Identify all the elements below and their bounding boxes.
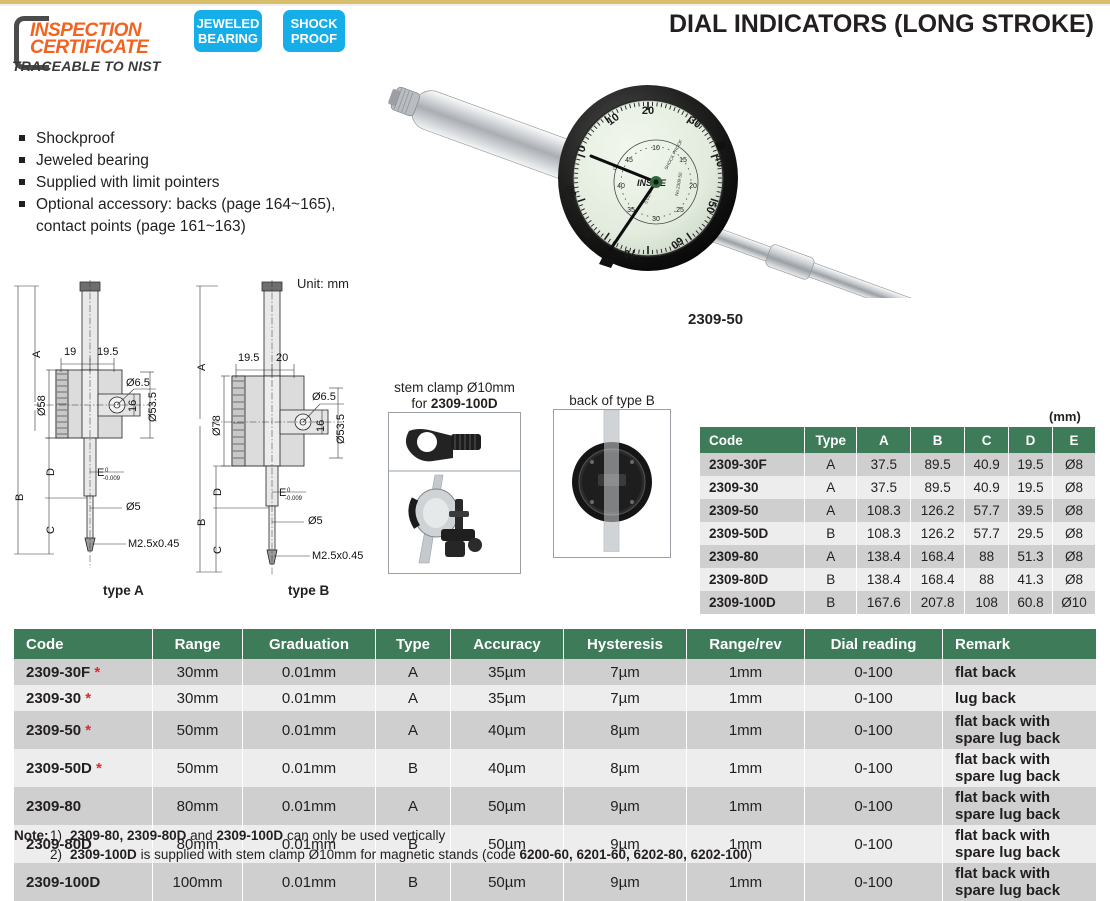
table-row: 2309-30A37.589.540.919.5Ø8 bbox=[700, 476, 1096, 499]
svg-text:D: D bbox=[45, 468, 57, 476]
note-tail: can only be used vertically bbox=[283, 828, 445, 843]
cell-range: 30mm bbox=[153, 659, 243, 685]
note-text: 2309-100D is supplied with stem clamp Ø1… bbox=[70, 845, 752, 864]
asterisk-marker: * bbox=[81, 722, 91, 739]
cell-value: 126.2 bbox=[911, 522, 965, 545]
col-hysteresis: Hysteresis bbox=[564, 629, 687, 659]
cell-value: 89.5 bbox=[911, 476, 965, 499]
cell-accuracy: 50µm bbox=[451, 787, 564, 825]
cell-hysteresis: 8µm bbox=[564, 711, 687, 749]
cell-type: A bbox=[376, 787, 451, 825]
inspection-certificate-logo: INSPECTION CERTIFICATE TRACEABLE TO NIST bbox=[12, 14, 192, 72]
cell-remark: flat back with spare lug back bbox=[943, 749, 1097, 787]
cell-code: 2309-100D bbox=[700, 591, 805, 614]
feature-text: Optional accessory: backs (page 164~165)… bbox=[36, 196, 335, 213]
table-row: 2309-100DB167.6207.810860.8Ø10 bbox=[700, 591, 1096, 614]
svg-text:19: 19 bbox=[64, 346, 76, 358]
cell-range-rev: 1mm bbox=[687, 711, 805, 749]
table-row: 2309-50D *50mm0.01mmB40µm8µm1mm0-100flat… bbox=[14, 749, 1097, 787]
cell-range: 30mm bbox=[153, 685, 243, 711]
cell-value: 37.5 bbox=[857, 476, 911, 499]
col-remark: Remark bbox=[943, 629, 1097, 659]
note-mid: is supplied with stem clamp Ø10mm for ma… bbox=[137, 847, 520, 862]
table-row: 2309-80A138.4168.48851.3Ø8 bbox=[700, 545, 1096, 568]
top-accent-bar bbox=[0, 0, 1110, 4]
note-number: 2) bbox=[50, 845, 70, 864]
cell-dial-reading: 0-100 bbox=[805, 711, 943, 749]
cell-value: B bbox=[805, 568, 857, 591]
table-header-row: Code Range Graduation Type Accuracy Hyst… bbox=[14, 629, 1097, 659]
cell-hysteresis: 7µm bbox=[564, 659, 687, 685]
cell-range-rev: 1mm bbox=[687, 787, 805, 825]
cell-code: 2309-50 * bbox=[14, 711, 153, 749]
svg-text:C: C bbox=[45, 526, 57, 534]
feature-text-continuation: contact points (page 161~163) bbox=[14, 216, 335, 237]
cell-remark: flat back with spare lug back bbox=[943, 787, 1097, 825]
product-code-caption: 2309-50 bbox=[688, 311, 743, 328]
cell-value: 88 bbox=[965, 568, 1009, 591]
cell-remark: flat back with spare lug back bbox=[943, 863, 1097, 901]
dimension-drawing-type-a: A B C D 19 19.5 Ø58 Ø53.5 16 Ø6.5 Ø5 M2.… bbox=[4, 276, 189, 596]
col-d: D bbox=[1009, 427, 1053, 453]
cell-range-rev: 1mm bbox=[687, 659, 805, 685]
cell-value: 19.5 bbox=[1009, 453, 1053, 476]
note-bold-1: 2309-80, 2309-80D bbox=[70, 828, 186, 843]
svg-text:45: 45 bbox=[625, 157, 633, 164]
cell-remark: flat back with spare lug back bbox=[943, 825, 1097, 863]
table-row: 2309-100D100mm0.01mmB50µm9µm1mm0-100flat… bbox=[14, 863, 1097, 901]
svg-text:B: B bbox=[196, 519, 208, 526]
cell-code: 2309-30F bbox=[700, 453, 805, 476]
svg-text:16: 16 bbox=[315, 420, 327, 432]
asterisk-marker: * bbox=[81, 690, 91, 707]
svg-text:0: 0 bbox=[287, 488, 291, 494]
accessory-caption-prefix: for bbox=[411, 396, 431, 411]
badge-shock-proof-line2: PROOF bbox=[291, 31, 337, 46]
col-range-rev: Range/rev bbox=[687, 629, 805, 659]
cell-value: 40.9 bbox=[965, 476, 1009, 499]
cell-value: Ø8 bbox=[1052, 476, 1095, 499]
note-number: 1) bbox=[50, 826, 70, 845]
cell-value: 57.7 bbox=[965, 522, 1009, 545]
svg-text:D: D bbox=[212, 488, 224, 496]
col-dial-reading: Dial reading bbox=[805, 629, 943, 659]
svg-text:20: 20 bbox=[642, 105, 654, 117]
notes-label-spacer bbox=[14, 845, 50, 864]
note-bold-2: 6200-60, 6201-60, 6202-80, 6202-100 bbox=[519, 847, 747, 862]
col-range: Range bbox=[153, 629, 243, 659]
accessory-image-frame bbox=[388, 412, 521, 574]
asterisk-marker: * bbox=[90, 664, 100, 681]
svg-text:Ø5: Ø5 bbox=[126, 501, 141, 513]
cell-value: A bbox=[805, 499, 857, 522]
svg-text:0: 0 bbox=[105, 468, 109, 474]
cell-hysteresis: 7µm bbox=[564, 685, 687, 711]
svg-text:Ø6.5: Ø6.5 bbox=[126, 377, 150, 389]
col-e: E bbox=[1052, 427, 1095, 453]
cell-hysteresis: 8µm bbox=[564, 749, 687, 787]
product-photo-dial-indicator: 20 30 40 50 60 70 80 90 0 10 10 15 20 25… bbox=[375, 78, 1035, 298]
catalog-page: INSPECTION CERTIFICATE TRACEABLE TO NIST… bbox=[0, 0, 1110, 866]
cell-value: 88 bbox=[965, 545, 1009, 568]
drawing-label-type-a: type A bbox=[103, 583, 144, 598]
col-c: C bbox=[965, 427, 1009, 453]
badge-jeweled-bearing-line2: BEARING bbox=[198, 31, 258, 46]
cell-value: B bbox=[805, 591, 857, 614]
accessory-image-frame bbox=[553, 409, 671, 558]
col-type: Type bbox=[805, 427, 857, 453]
cell-code: 2309-30F * bbox=[14, 659, 153, 685]
svg-text:B: B bbox=[14, 494, 26, 501]
drawing-label-type-b: type B bbox=[288, 583, 329, 598]
cell-value: 168.4 bbox=[911, 568, 965, 591]
table-row: 2309-80DB138.4168.48841.3Ø8 bbox=[700, 568, 1096, 591]
cell-value: 168.4 bbox=[911, 545, 965, 568]
cell-type: A bbox=[376, 685, 451, 711]
cell-dial-reading: 0-100 bbox=[805, 825, 943, 863]
note-mid: and bbox=[186, 828, 216, 843]
feature-text: Shockproof bbox=[36, 130, 114, 147]
svg-text:A: A bbox=[31, 350, 43, 358]
dimension-drawing-type-b: A B C D 19.5 20 Ø78 Ø53.5 16 Ø6.5 Ø5 M2.… bbox=[186, 276, 381, 596]
svg-text:Ø58: Ø58 bbox=[36, 395, 48, 416]
cell-value: 60.8 bbox=[1009, 591, 1053, 614]
cell-range: 50mm bbox=[153, 711, 243, 749]
cell-dial-reading: 0-100 bbox=[805, 787, 943, 825]
cell-hysteresis: 9µm bbox=[564, 863, 687, 901]
cell-remark: lug back bbox=[943, 685, 1097, 711]
table-row: 2309-30F *30mm0.01mmA35µm7µm1mm0-100flat… bbox=[14, 659, 1097, 685]
unit-label: Unit: mm bbox=[297, 276, 349, 291]
cell-value: 40.9 bbox=[965, 453, 1009, 476]
cell-accuracy: 50µm bbox=[451, 863, 564, 901]
accessory-caption: stem clamp Ø10mm for 2309-100D bbox=[388, 380, 521, 412]
cell-graduation: 0.01mm bbox=[243, 863, 376, 901]
cell-value: 108.3 bbox=[857, 522, 911, 545]
cell-dial-reading: 0-100 bbox=[805, 659, 943, 685]
cell-type: A bbox=[376, 711, 451, 749]
badge-shock-proof-line1: SHOCK bbox=[291, 16, 338, 31]
cell-dial-reading: 0-100 bbox=[805, 749, 943, 787]
cell-hysteresis: 9µm bbox=[564, 787, 687, 825]
list-item: Jeweled bearing bbox=[14, 150, 335, 171]
note-row: Note: 1) 2309-80, 2309-80D and 2309-100D… bbox=[14, 826, 752, 845]
cell-value: 167.6 bbox=[857, 591, 911, 614]
cell-value: 138.4 bbox=[857, 545, 911, 568]
cell-value: A bbox=[805, 476, 857, 499]
cell-value: Ø8 bbox=[1052, 453, 1095, 476]
svg-text:15: 15 bbox=[679, 157, 687, 164]
dimension-table-unit: (mm) bbox=[1049, 409, 1081, 424]
cell-code: 2309-30 * bbox=[14, 685, 153, 711]
cell-value: 126.2 bbox=[911, 499, 965, 522]
cell-accuracy: 40µm bbox=[451, 711, 564, 749]
cell-graduation: 0.01mm bbox=[243, 685, 376, 711]
list-item: Supplied with limit pointers bbox=[14, 172, 335, 193]
feature-text: Supplied with limit pointers bbox=[36, 174, 220, 191]
cell-value: 41.3 bbox=[1009, 568, 1053, 591]
cell-value: 19.5 bbox=[1009, 476, 1053, 499]
accessory-stem-clamp: stem clamp Ø10mm for 2309-100D bbox=[388, 380, 521, 574]
cell-code: 2309-100D bbox=[14, 863, 153, 901]
svg-text:-0.009: -0.009 bbox=[103, 476, 121, 482]
cell-value: Ø10 bbox=[1052, 591, 1095, 614]
table-row: 2309-8080mm0.01mmA50µm9µm1mm0-100flat ba… bbox=[14, 787, 1097, 825]
page-title: DIAL INDICATORS (LONG STROKE) bbox=[669, 10, 1094, 39]
cell-code: 2309-30 bbox=[700, 476, 805, 499]
list-item: Optional accessory: backs (page 164~165)… bbox=[14, 194, 335, 215]
svg-text:19.5: 19.5 bbox=[238, 352, 259, 364]
note-tail: ) bbox=[748, 847, 753, 862]
cell-value: Ø8 bbox=[1052, 568, 1095, 591]
accessory-caption-code: 2309-100D bbox=[431, 396, 498, 411]
svg-text:70: 70 bbox=[624, 247, 636, 259]
asterisk-marker: * bbox=[92, 760, 102, 777]
cell-value: Ø8 bbox=[1052, 499, 1095, 522]
cell-value: Ø8 bbox=[1052, 522, 1095, 545]
col-accuracy: Accuracy bbox=[451, 629, 564, 659]
svg-text:M2.5x0.45: M2.5x0.45 bbox=[312, 550, 363, 562]
note-bold-1: 2309-100D bbox=[70, 847, 137, 862]
cell-graduation: 0.01mm bbox=[243, 749, 376, 787]
cell-range-rev: 1mm bbox=[687, 749, 805, 787]
notes-label: Note: bbox=[14, 826, 50, 845]
table-row: 2309-50DB108.3126.257.729.5Ø8 bbox=[700, 522, 1096, 545]
cell-value: 89.5 bbox=[911, 453, 965, 476]
cell-code: 2309-50 bbox=[700, 499, 805, 522]
cell-value: Ø8 bbox=[1052, 545, 1095, 568]
svg-text:-0.009: -0.009 bbox=[285, 496, 303, 502]
cell-range: 80mm bbox=[153, 787, 243, 825]
list-item: Shockproof bbox=[14, 128, 335, 149]
cell-value: 108 bbox=[965, 591, 1009, 614]
col-code: Code bbox=[700, 427, 805, 453]
cell-value: 51.3 bbox=[1009, 545, 1053, 568]
cell-value: 37.5 bbox=[857, 453, 911, 476]
cell-value: 108.3 bbox=[857, 499, 911, 522]
note-text: 2309-80, 2309-80D and 2309-100D can only… bbox=[70, 826, 445, 845]
accessory-caption-line1: stem clamp Ø10mm bbox=[388, 380, 521, 396]
cell-range-rev: 1mm bbox=[687, 863, 805, 901]
col-code: Code bbox=[14, 629, 153, 659]
cell-value: 138.4 bbox=[857, 568, 911, 591]
cell-range: 100mm bbox=[153, 863, 243, 901]
cell-value: 39.5 bbox=[1009, 499, 1053, 522]
cell-accuracy: 40µm bbox=[451, 749, 564, 787]
note-bold-2: 2309-100D bbox=[216, 828, 283, 843]
cell-graduation: 0.01mm bbox=[243, 659, 376, 685]
badge-jeweled-bearing: JEWELED BEARING bbox=[194, 10, 262, 52]
accessory-caption: back of type B bbox=[553, 393, 671, 409]
svg-text:10: 10 bbox=[652, 145, 660, 152]
feature-list: Shockproof Jeweled bearing Supplied with… bbox=[14, 128, 335, 237]
cell-value: A bbox=[805, 545, 857, 568]
cell-code: 2309-50D bbox=[700, 522, 805, 545]
table-row: 2309-50A108.3126.257.739.5Ø8 bbox=[700, 499, 1096, 522]
svg-text:Ø6.5: Ø6.5 bbox=[312, 391, 336, 403]
svg-text:C: C bbox=[212, 546, 224, 554]
bullet-square-icon bbox=[19, 135, 25, 141]
svg-text:M2.5x0.45: M2.5x0.45 bbox=[128, 538, 179, 550]
cell-accuracy: 35µm bbox=[451, 685, 564, 711]
cell-value: B bbox=[805, 522, 857, 545]
notes-block: Note: 1) 2309-80, 2309-80D and 2309-100D… bbox=[14, 826, 752, 864]
accessory-back-type-b: back of type B bbox=[553, 393, 671, 558]
cell-type: B bbox=[376, 863, 451, 901]
svg-text:Ø53.5: Ø53.5 bbox=[147, 392, 159, 422]
cell-value: 29.5 bbox=[1009, 522, 1053, 545]
badge-shock-proof: SHOCK PROOF bbox=[283, 10, 345, 52]
cell-code: 2309-80D bbox=[700, 568, 805, 591]
cell-remark: flat back bbox=[943, 659, 1097, 685]
dimension-table: Code Type A B C D E 2309-30FA37.589.540.… bbox=[700, 427, 1096, 614]
cell-type: B bbox=[376, 749, 451, 787]
table-header-row: Code Type A B C D E bbox=[700, 427, 1096, 453]
cell-range-rev: 1mm bbox=[687, 685, 805, 711]
svg-text:Ø78: Ø78 bbox=[211, 415, 223, 436]
feature-text: Jeweled bearing bbox=[36, 152, 149, 169]
svg-text:40: 40 bbox=[617, 183, 625, 190]
cell-code: 2309-80 bbox=[700, 545, 805, 568]
bullet-square-icon bbox=[19, 201, 25, 207]
col-type: Type bbox=[376, 629, 451, 659]
cell-type: A bbox=[376, 659, 451, 685]
col-graduation: Graduation bbox=[243, 629, 376, 659]
svg-text:25: 25 bbox=[676, 207, 684, 214]
table-row: 2309-30FA37.589.540.919.5Ø8 bbox=[700, 453, 1096, 476]
cell-code: 2309-80 bbox=[14, 787, 153, 825]
certificate-line2: CERTIFICATE bbox=[30, 38, 148, 57]
cell-graduation: 0.01mm bbox=[243, 787, 376, 825]
note-row: 2) 2309-100D is supplied with stem clamp… bbox=[14, 845, 752, 864]
svg-text:16: 16 bbox=[127, 400, 139, 412]
svg-text:20: 20 bbox=[276, 352, 288, 364]
cell-value: 207.8 bbox=[911, 591, 965, 614]
cell-dial-reading: 0-100 bbox=[805, 685, 943, 711]
certificate-line3: TRACEABLE TO NIST bbox=[12, 58, 161, 74]
table-row: 2309-30 *30mm0.01mmA35µm7µm1mm0-100lug b… bbox=[14, 685, 1097, 711]
svg-text:19.5: 19.5 bbox=[97, 346, 118, 358]
cell-value: 57.7 bbox=[965, 499, 1009, 522]
badge-jeweled-bearing-line1: JEWELED bbox=[197, 16, 260, 31]
cell-value: A bbox=[805, 453, 857, 476]
cell-graduation: 0.01mm bbox=[243, 711, 376, 749]
svg-text:A: A bbox=[196, 363, 208, 371]
cell-dial-reading: 0-100 bbox=[805, 863, 943, 901]
cell-accuracy: 35µm bbox=[451, 659, 564, 685]
cell-remark: flat back with spare lug back bbox=[943, 711, 1097, 749]
svg-text:Ø53.5: Ø53.5 bbox=[335, 414, 347, 444]
col-a: A bbox=[857, 427, 911, 453]
cell-range: 50mm bbox=[153, 749, 243, 787]
cell-code: 2309-50D * bbox=[14, 749, 153, 787]
bullet-square-icon bbox=[19, 157, 25, 163]
svg-text:Ø5: Ø5 bbox=[308, 515, 323, 527]
col-b: B bbox=[911, 427, 965, 453]
table-row: 2309-50 *50mm0.01mmA40µm8µm1mm0-100flat … bbox=[14, 711, 1097, 749]
bullet-square-icon bbox=[19, 179, 25, 185]
